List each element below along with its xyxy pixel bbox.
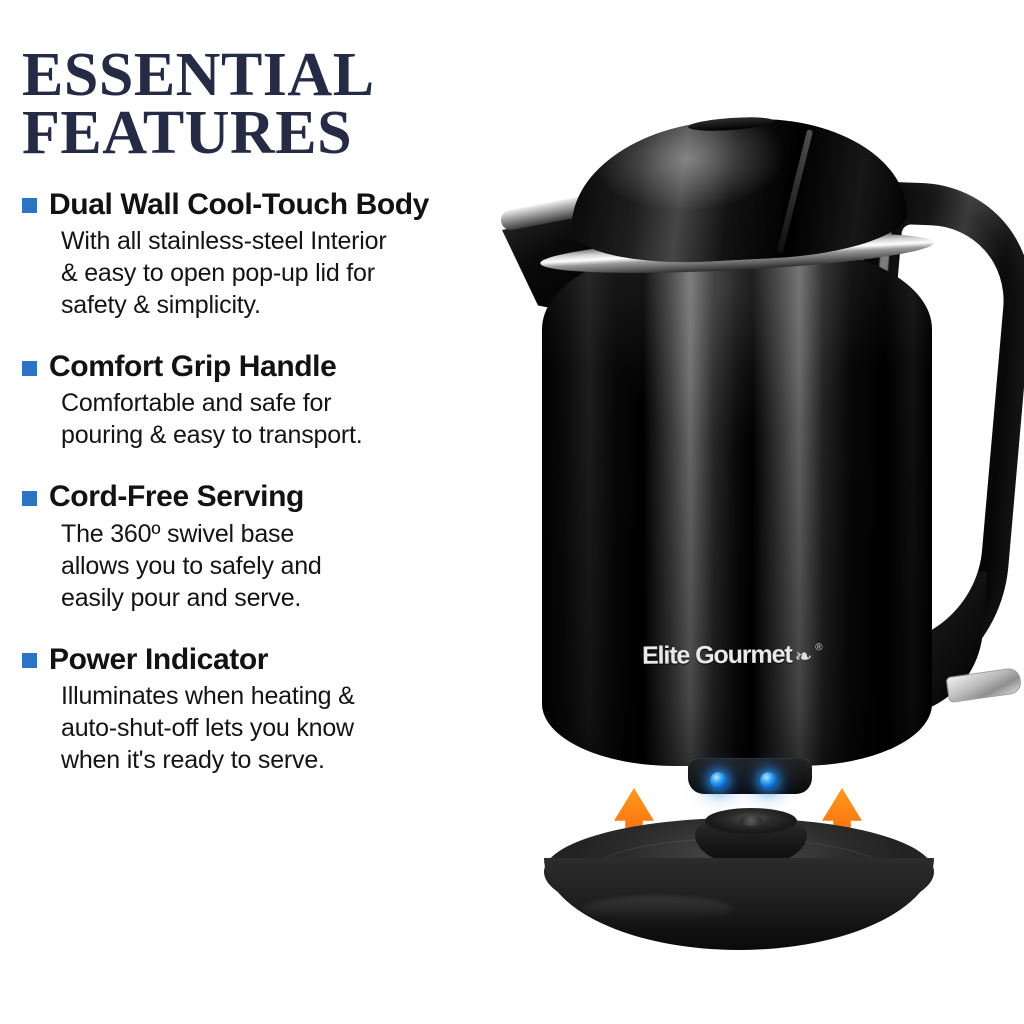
feature-description-line: pouring & easy to transport. (61, 419, 531, 451)
page-title-line-1: ESSENTIAL (22, 46, 540, 104)
brand-logo-text: Elite Gourmet (642, 640, 792, 670)
feature-description-line: when it's ready to serve. (61, 744, 531, 776)
feature-description: The 360º swivel base allows you to safel… (61, 518, 531, 614)
feature-item-dual-wall-cool-touch-body: Dual Wall Cool-Touch Body With all stain… (22, 189, 540, 321)
feature-description-line: The 360º swivel base (61, 518, 531, 550)
square-bullet-icon (22, 653, 37, 668)
feature-description-line: & easy to open pop-up lid for (61, 257, 531, 289)
page-title: ESSENTIAL FEATURES (22, 46, 540, 163)
power-indicator-housing (688, 758, 812, 794)
square-bullet-icon (22, 491, 37, 506)
brand-logo: Elite Gourmet ❧ ® (642, 640, 823, 671)
feature-description-line: safety & simplicity. (61, 289, 531, 321)
power-indicator-led (710, 772, 727, 789)
kettle-base-connector-center (740, 815, 762, 826)
feature-description: Illuminates when heating & auto-shut-off… (61, 680, 531, 776)
feature-heading-row: Comfort Grip Handle (22, 351, 540, 383)
square-bullet-icon (22, 198, 37, 213)
features-panel: ESSENTIAL FEATURES Dual Wall Cool-Touch … (0, 0, 540, 1024)
feature-title: Cord-Free Serving (49, 481, 304, 513)
kettle-lid (567, 111, 910, 268)
feature-description-line: auto-shut-off lets you know (61, 712, 531, 744)
feature-item-comfort-grip-handle: Comfort Grip Handle Comfortable and safe… (22, 351, 540, 451)
leaf-icon: ❧ (795, 646, 813, 667)
feature-heading-row: Dual Wall Cool-Touch Body (22, 189, 540, 221)
feature-title: Comfort Grip Handle (49, 351, 336, 383)
kettle-base-highlight (582, 896, 732, 922)
feature-item-cord-free-serving: Cord-Free Serving The 360º swivel base a… (22, 481, 540, 613)
feature-description-line: allows you to safely and (61, 550, 531, 582)
feature-heading-row: Cord-Free Serving (22, 481, 540, 513)
feature-description-line: Illuminates when heating & (61, 680, 531, 712)
feature-item-power-indicator: Power Indicator Illuminates when heating… (22, 644, 540, 776)
kettle-body-shading (542, 246, 932, 766)
feature-description: Comfortable and safe for pouring & easy … (61, 387, 531, 451)
square-bullet-icon (22, 361, 37, 376)
power-indicator-led (760, 772, 777, 789)
feature-heading-row: Power Indicator (22, 644, 540, 676)
feature-description: With all stainless-steel Interior & easy… (61, 225, 531, 321)
page-title-line-2: FEATURES (22, 104, 540, 162)
feature-description-line: Comfortable and safe for (61, 387, 531, 419)
feature-title: Dual Wall Cool-Touch Body (49, 189, 429, 221)
product-feature-infographic: ESSENTIAL FEATURES Dual Wall Cool-Touch … (0, 0, 1024, 1024)
feature-description-line: easily pour and serve. (61, 582, 531, 614)
product-image-electric-kettle: Elite Gourmet ❧ ® (492, 96, 1024, 986)
feature-description-line: With all stainless-steel Interior (61, 225, 531, 257)
feature-title: Power Indicator (49, 644, 268, 676)
registered-trademark-icon: ® (815, 642, 822, 653)
